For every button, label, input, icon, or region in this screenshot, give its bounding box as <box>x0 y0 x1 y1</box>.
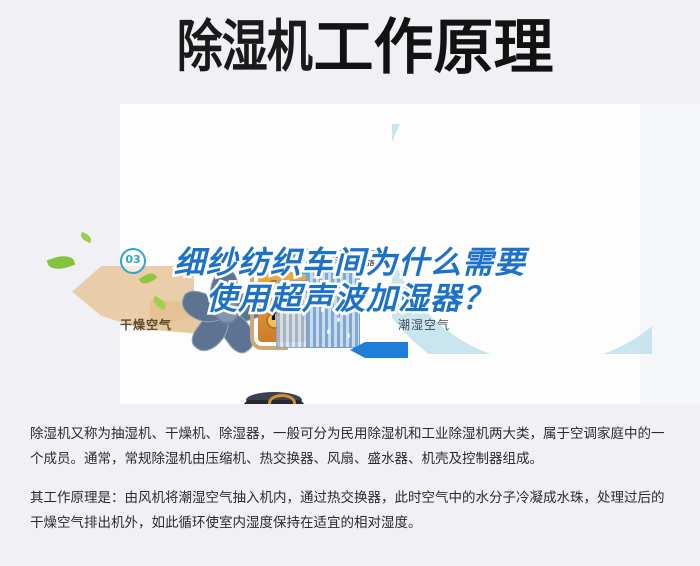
callout-pointer-icon <box>352 267 364 281</box>
dry-air-label: 干燥空气 <box>120 316 172 333</box>
infographic-page: 除湿机工作原理 干燥空气 ➡ ⬆ <box>0 0 700 566</box>
page-title-part-two: 工作原理 <box>314 18 554 78</box>
badge-02: 02 <box>292 248 318 274</box>
heat-exchanger-fins <box>306 272 360 348</box>
dehumidifier-diagram: 干燥空气 ➡ ⬆ ⬇ <box>0 104 700 404</box>
body-paragraph-1: 除湿机又称为抽湿机、干燥机、除湿器，一般可分为民用除湿机和工业除湿机两大类，属于… <box>0 422 700 472</box>
humid-air-label: 潮湿空气 <box>398 316 450 333</box>
fan-hub <box>214 298 240 324</box>
badge-01: 01 <box>396 288 422 314</box>
page-title: 除湿机工作原理 <box>0 18 700 78</box>
diagram-left-gutter <box>0 104 120 404</box>
page-title-part-one: 除湿机 <box>176 20 311 76</box>
body-copy: 除湿机又称为抽湿机、干燥机、除湿器，一般可分为民用除湿机和工业除湿机两大类，属于… <box>0 404 700 566</box>
body-paragraph-2: 其工作原理是：由风机将潮湿空气抽入机内，通过热交换器，此时空气中的水分子冷凝成水… <box>0 486 700 536</box>
header-banner: 除湿机工作原理 <box>0 0 700 112</box>
badge-03: 03 <box>120 248 146 274</box>
heat-exchanger-secondary-fins <box>276 280 310 348</box>
